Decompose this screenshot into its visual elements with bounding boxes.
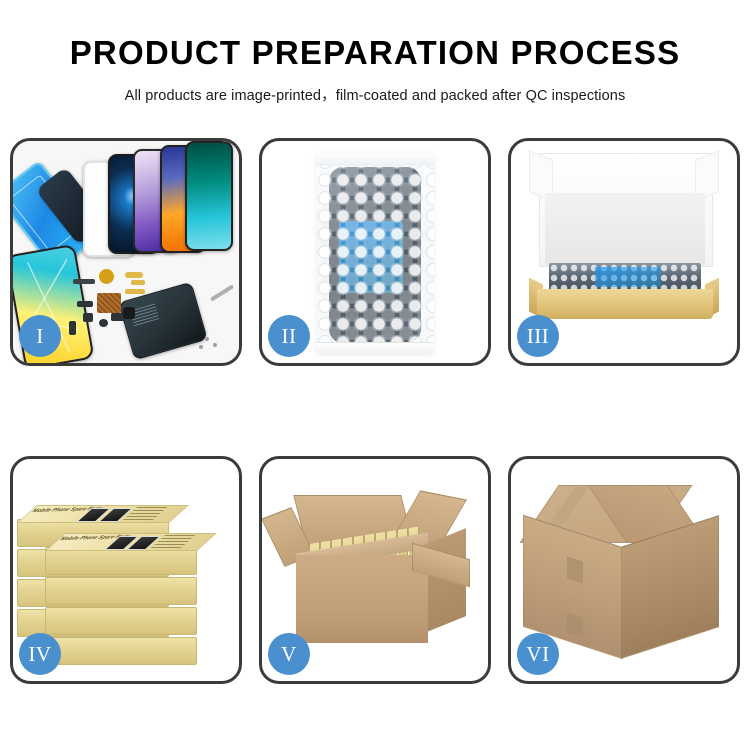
bag-seal-top xyxy=(316,153,434,166)
step-badge-4: IV xyxy=(19,633,61,675)
gold-connector-part xyxy=(131,280,145,285)
step-panel-2[interactable]: II xyxy=(259,138,491,366)
ribbon-cable-part xyxy=(77,301,93,307)
copper-chip-part xyxy=(97,293,121,313)
gold-coil-part xyxy=(99,269,114,284)
retail-box xyxy=(45,607,197,635)
step-badge-5: V xyxy=(268,633,310,675)
flex-cable-part xyxy=(73,279,95,284)
inner-box-front xyxy=(537,289,713,319)
process-steps-grid: I II III xyxy=(10,138,740,690)
step-badge-2: II xyxy=(268,315,310,357)
page-title: PRODUCT PREPARATION PROCESS xyxy=(0,34,750,72)
carton-front-panel xyxy=(296,555,428,643)
bubble-texture xyxy=(316,153,434,355)
step-badge-1: I xyxy=(19,315,61,357)
retail-box: Mobile Phone Spare Parts xyxy=(45,547,197,575)
screw-part xyxy=(199,345,203,349)
sim-tray-part xyxy=(69,321,76,335)
page-header: PRODUCT PREPARATION PROCESS All products… xyxy=(0,0,750,130)
screw-part xyxy=(205,337,209,341)
page-subtitle: All products are image-printed，film-coat… xyxy=(0,84,750,105)
step-panel-5[interactable]: V xyxy=(259,456,491,684)
bag-seal-bottom xyxy=(316,342,434,355)
retail-box xyxy=(45,577,197,605)
antenna-flex-part xyxy=(125,289,145,294)
teal-gradient-phone-icon xyxy=(185,141,233,251)
bubble-wrap-bag-icon xyxy=(316,153,434,355)
step-panel-3[interactable]: III xyxy=(508,138,740,366)
step-panel-1[interactable]: I xyxy=(10,138,242,366)
step-panel-6[interactable]: VI xyxy=(508,456,740,684)
camera-module-part xyxy=(123,307,135,319)
step-badge-6: VI xyxy=(517,633,559,675)
button-part xyxy=(99,319,108,327)
gold-flex-part xyxy=(125,272,143,278)
small-module-part xyxy=(83,313,93,322)
retail-box xyxy=(45,637,197,665)
inner-box-cavity xyxy=(545,193,705,265)
step-panel-4[interactable]: Mobile Phone Spare Parts Mobile Phone Sp… xyxy=(10,456,242,684)
screw-part xyxy=(213,343,217,347)
step-badge-3: III xyxy=(517,315,559,357)
